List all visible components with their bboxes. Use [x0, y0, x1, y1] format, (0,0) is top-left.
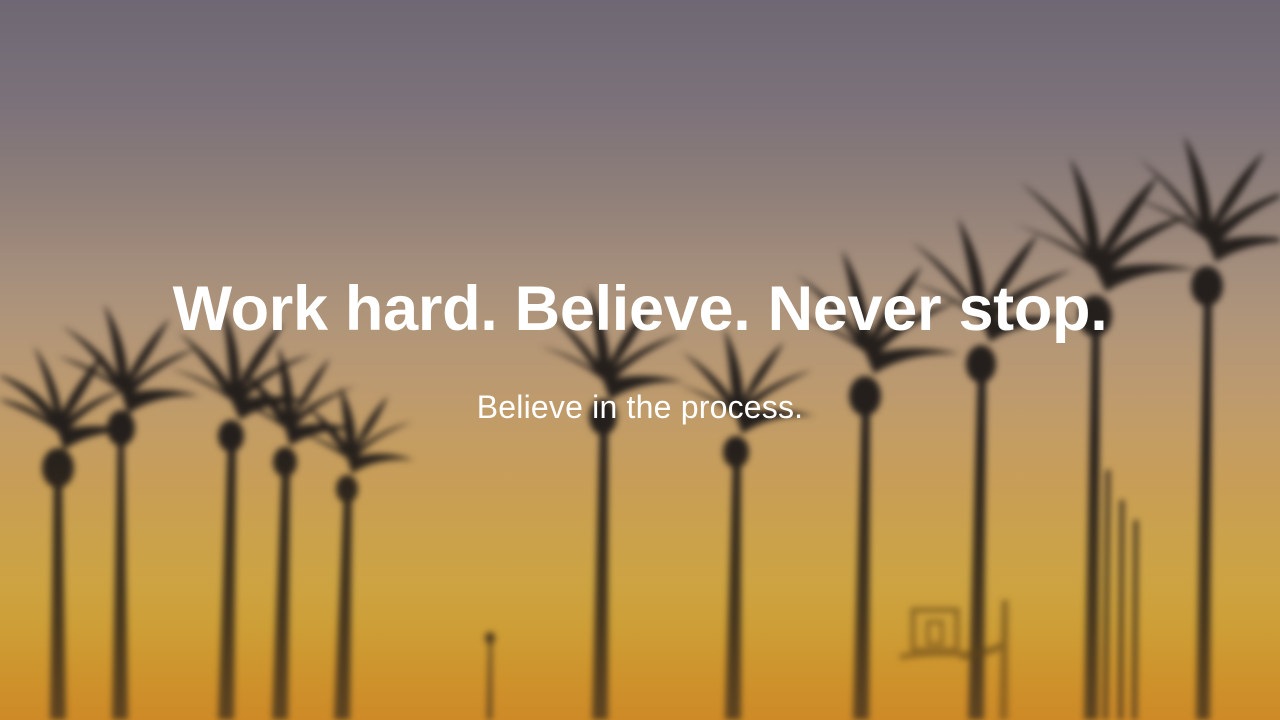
page-title: Work hard. Believe. Never stop.: [173, 277, 1108, 343]
quote-slide: Work hard. Believe. Never stop. Believe …: [0, 0, 1280, 720]
slide-text-layer: Work hard. Believe. Never stop. Believe …: [0, 0, 1280, 720]
page-subtitle: Believe in the process.: [477, 388, 804, 426]
